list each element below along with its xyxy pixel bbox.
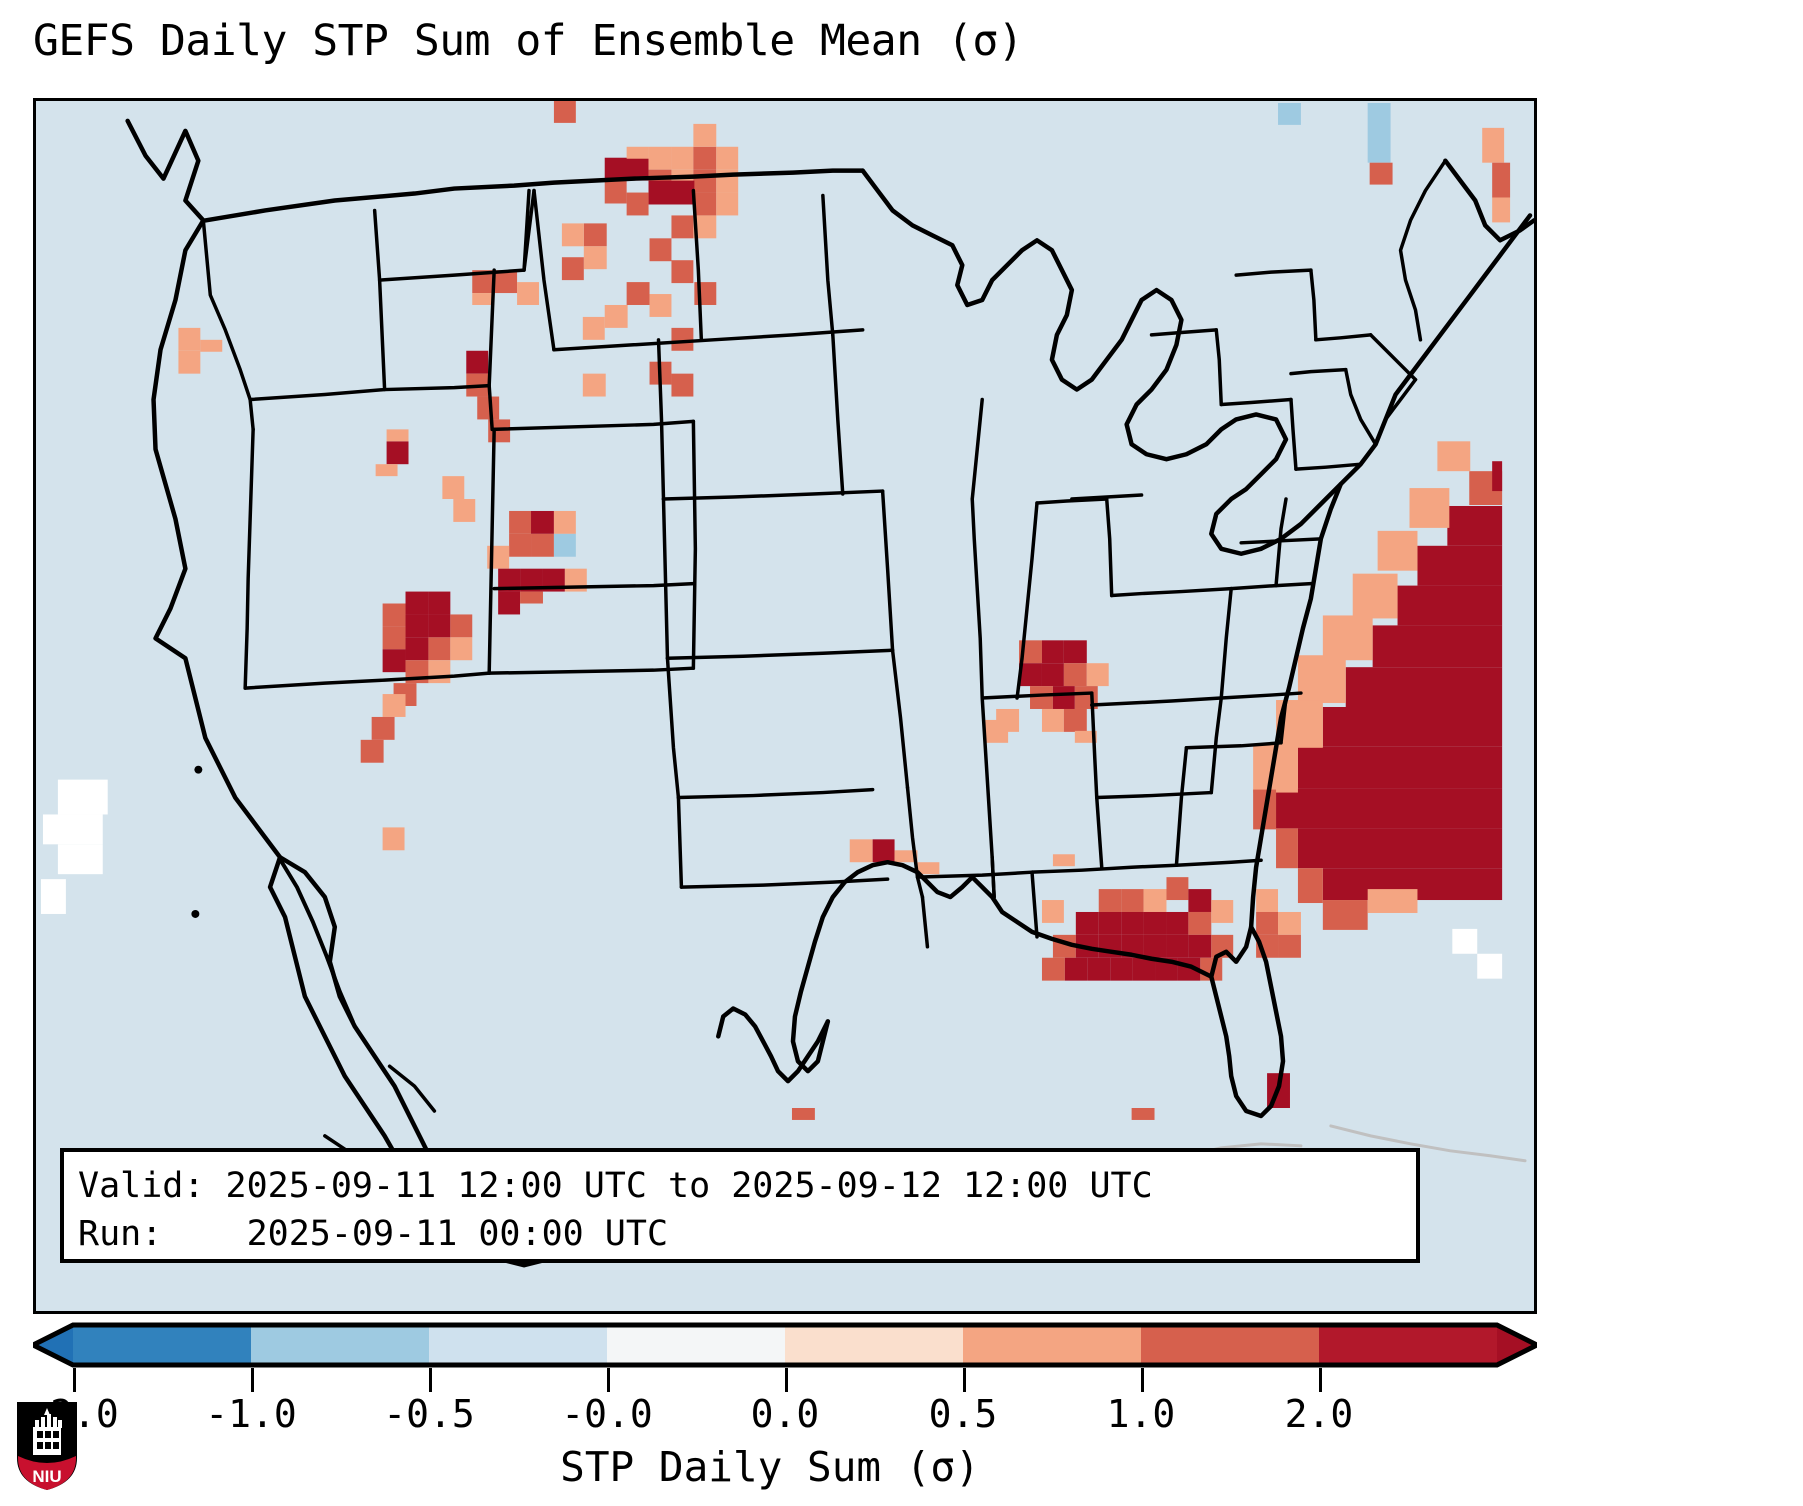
heatmap-cell	[41, 879, 66, 914]
heatmap-cell	[650, 238, 672, 261]
colorbar-tick	[607, 1368, 610, 1392]
colorbar-band	[607, 1325, 786, 1365]
heatmap-cell	[627, 193, 649, 216]
heatmap-cell	[1323, 615, 1373, 660]
heatmap-cell	[985, 720, 1008, 743]
heatmap-cell	[387, 429, 409, 441]
heatmap-cell	[1323, 707, 1502, 747]
heatmap-cell	[1111, 958, 1133, 981]
heatmap-cell	[1276, 789, 1502, 829]
heatmap-cell	[1298, 655, 1346, 703]
heatmap-cell	[1042, 640, 1064, 663]
heatmap-cell	[1166, 912, 1188, 935]
heatmap-cell	[1276, 828, 1298, 868]
heatmap-cell	[649, 181, 695, 205]
heatmap-cell	[562, 223, 584, 246]
heatmap-cell	[387, 441, 409, 464]
heatmap-cell	[428, 660, 450, 683]
heatmap-cell	[1370, 163, 1393, 185]
heatmap-cell	[671, 328, 693, 351]
heatmap-cell	[450, 637, 472, 660]
heatmap-cell	[1298, 747, 1502, 789]
heatmap-cell	[43, 814, 103, 844]
colorbar-band	[963, 1325, 1142, 1365]
heatmap-cell	[178, 328, 200, 351]
logo-text: NIU	[32, 1467, 61, 1486]
heatmap-cell	[383, 827, 405, 850]
heatmap-cell	[554, 511, 576, 534]
heatmap-cell	[1368, 103, 1391, 163]
heatmap-cell	[1099, 889, 1122, 912]
heatmap-cell	[1368, 889, 1418, 913]
heatmap-cell	[1064, 663, 1087, 686]
heatmap-cell	[1452, 929, 1477, 954]
heatmap-cell	[453, 499, 475, 522]
colorbar-tick	[1319, 1368, 1322, 1392]
heatmap-cell	[1373, 625, 1502, 667]
heatmap-cell	[1042, 663, 1064, 686]
colorbar[interactable]	[33, 1322, 1537, 1368]
colorbar-tick	[73, 1368, 76, 1392]
heatmap-cell	[1144, 912, 1167, 935]
colorbar-tick-label: 0.0	[751, 1392, 820, 1436]
map-panel	[33, 98, 1537, 1314]
heatmap-cell	[584, 246, 607, 269]
colorbar-ticks	[33, 1368, 1537, 1394]
heatmap-cell	[531, 511, 554, 534]
heatmap-cell	[383, 694, 406, 717]
heatmap-cell	[554, 534, 576, 557]
heatmap-cell	[1099, 912, 1122, 935]
heatmap-cell	[428, 637, 450, 660]
heatmap-cell	[406, 614, 429, 637]
colorbar-tick-label: -1.0	[205, 1392, 297, 1436]
heatmap-cell	[873, 839, 895, 862]
heatmap-cell	[1346, 667, 1502, 707]
colorbar-tick-label: 2.0	[1285, 1392, 1354, 1436]
heatmap-cell	[1053, 686, 1075, 709]
map-canvas	[36, 101, 1534, 1311]
colorbar-tick-label: 0.5	[929, 1392, 998, 1436]
heatmap-cell	[509, 534, 531, 557]
heatmap-cell	[627, 282, 650, 305]
colorbar-tick	[1141, 1368, 1144, 1392]
heatmap-cell	[200, 340, 222, 352]
heatmap-cell	[372, 717, 395, 740]
heatmap-cell	[1166, 877, 1188, 900]
heatmap-cell	[1482, 128, 1504, 163]
colorbar-tick-label: -0.5	[383, 1392, 475, 1436]
heatmap-cell	[376, 464, 398, 476]
annotation-box: Valid: 2025-09-11 12:00 UTC to 2025-09-1…	[60, 1148, 1420, 1263]
heatmap-cell	[1447, 506, 1502, 546]
heatmap-cell	[1211, 900, 1233, 923]
heatmap-cell	[406, 637, 429, 660]
heatmap-cell	[693, 147, 716, 170]
heatmap-cell	[472, 293, 494, 305]
heatmap-cell	[1188, 889, 1211, 912]
heatmap-cell	[1398, 586, 1503, 626]
heatmap-cell	[531, 534, 554, 557]
heatmap-cell	[1256, 912, 1278, 935]
heatmap-cell	[627, 147, 649, 159]
heatmap-cell	[671, 260, 693, 283]
heatmap-cell	[605, 305, 628, 328]
colorbar-under-arrow	[33, 1325, 73, 1365]
heatmap-cell	[1298, 828, 1502, 868]
heatmap-cell	[671, 215, 693, 238]
heatmap-cell	[583, 374, 606, 397]
heatmap-cell	[1053, 854, 1075, 866]
heatmap-cell	[383, 604, 406, 627]
heatmap-cell	[671, 374, 693, 397]
colorbar-over-arrow	[1497, 1325, 1537, 1365]
heatmap-cell	[383, 626, 406, 649]
heatmap-cell	[1437, 441, 1470, 471]
heatmap-cell	[693, 170, 716, 193]
heatmap-cell	[1492, 198, 1510, 223]
heatmap-cell	[1323, 900, 1368, 930]
heatmap-cell	[1477, 954, 1502, 979]
heatmap-cell	[428, 592, 450, 615]
heatmap-cell	[649, 147, 672, 170]
heatmap-cell	[361, 740, 384, 763]
heatmap-cell	[792, 1108, 815, 1120]
heatmap-cell	[1133, 958, 1156, 981]
heatmap-cell	[428, 614, 450, 637]
heatmap-cell	[58, 780, 108, 815]
heatmap-cell	[605, 181, 627, 204]
heatmap-cell	[716, 147, 738, 170]
colorbar-band	[1319, 1325, 1498, 1365]
colorbar-band	[73, 1325, 252, 1365]
heatmap-cell	[1278, 912, 1301, 935]
colorbar-tick-label: 1.0	[1107, 1392, 1176, 1436]
heatmap-cell	[1409, 488, 1449, 528]
heatmap-cell	[693, 124, 716, 147]
heatmap-cell	[1132, 1108, 1155, 1120]
colorbar-tick-label: -0.0	[561, 1392, 653, 1436]
colorbar-tick	[429, 1368, 432, 1392]
heatmap-cell	[1278, 935, 1301, 958]
heatmap-cell	[477, 397, 499, 420]
heatmap-cell	[498, 592, 520, 615]
heatmap-cell	[406, 592, 429, 615]
heatmap-cell	[671, 147, 693, 170]
colorbar-band	[785, 1325, 964, 1365]
heatmap-cell	[554, 101, 576, 123]
heatmap-cell	[58, 844, 103, 874]
heatmap-cell	[383, 649, 406, 672]
colorbar-tick-labels: -2.0-1.0-0.5-0.00.00.51.02.0	[0, 1392, 1803, 1442]
heatmap-cell	[1278, 103, 1301, 125]
heatmap-cell	[1088, 958, 1111, 981]
heatmap-cell	[1064, 709, 1087, 732]
heatmap-cell	[1298, 868, 1323, 903]
colorbar-band	[429, 1325, 608, 1365]
valid-time-text: Valid: 2025-09-11 12:00 UTC to 2025-09-1…	[78, 1162, 1402, 1210]
colorbar-tick	[785, 1368, 788, 1392]
heatmap-cell	[1042, 900, 1064, 923]
heatmap-cell	[509, 511, 531, 534]
heatmap-cell	[850, 839, 873, 862]
heatmap-cell	[1188, 935, 1211, 958]
heatmap-cell	[1042, 958, 1065, 981]
heatmap-cell	[1144, 889, 1167, 912]
colorbar-band	[1141, 1325, 1320, 1365]
heatmap-cell	[1166, 935, 1188, 958]
heatmap-cell	[1353, 574, 1398, 619]
colorbar-tick	[251, 1368, 254, 1392]
heatmap-cell	[1417, 546, 1502, 586]
heatmap-cell	[450, 614, 472, 637]
heatmap-cell	[1378, 531, 1418, 571]
colorbar-tick	[963, 1368, 966, 1392]
heatmap-cell	[442, 476, 464, 499]
heatmap-cell	[584, 223, 607, 246]
heatmap-cell	[520, 592, 543, 604]
colorbar-svg	[33, 1322, 1537, 1368]
colorbar-bands	[73, 1325, 1498, 1365]
heatmap-cell	[466, 351, 488, 374]
heatmap-cell	[1122, 889, 1144, 912]
heatmap-cell	[1122, 912, 1144, 935]
heatmap-cell	[562, 257, 584, 280]
heatmap-cell	[693, 193, 716, 216]
heatmap-cell	[716, 193, 738, 216]
heatmap-cell	[1256, 889, 1278, 912]
heatmap-cell	[1042, 709, 1064, 732]
heatmap-cell	[1030, 686, 1053, 709]
heatmap-cell	[650, 294, 672, 317]
run-time-text: Run: 2025-09-11 00:00 UTC	[78, 1210, 1402, 1258]
heatmap-cell	[1188, 912, 1211, 935]
heatmap-cell	[178, 351, 200, 374]
heatmap-cell	[1087, 663, 1109, 686]
heatmap-cell	[1492, 163, 1510, 198]
heatmap-cell	[1144, 935, 1167, 958]
page-title: GEFS Daily STP Sum of Ensemble Mean (σ)	[33, 16, 1023, 66]
colorbar-axis-label: STP Daily Sum (σ)	[0, 1443, 1540, 1491]
heatmap-cell	[1065, 958, 1088, 981]
colorbar-band	[251, 1325, 430, 1365]
heatmap-cell	[1076, 912, 1099, 935]
heatmap-cell	[583, 317, 605, 340]
niu-logo: NIU	[14, 1400, 80, 1492]
heatmap-cell	[1492, 461, 1502, 491]
heatmap-cell	[517, 282, 539, 305]
heatmap-cell	[1064, 640, 1087, 663]
